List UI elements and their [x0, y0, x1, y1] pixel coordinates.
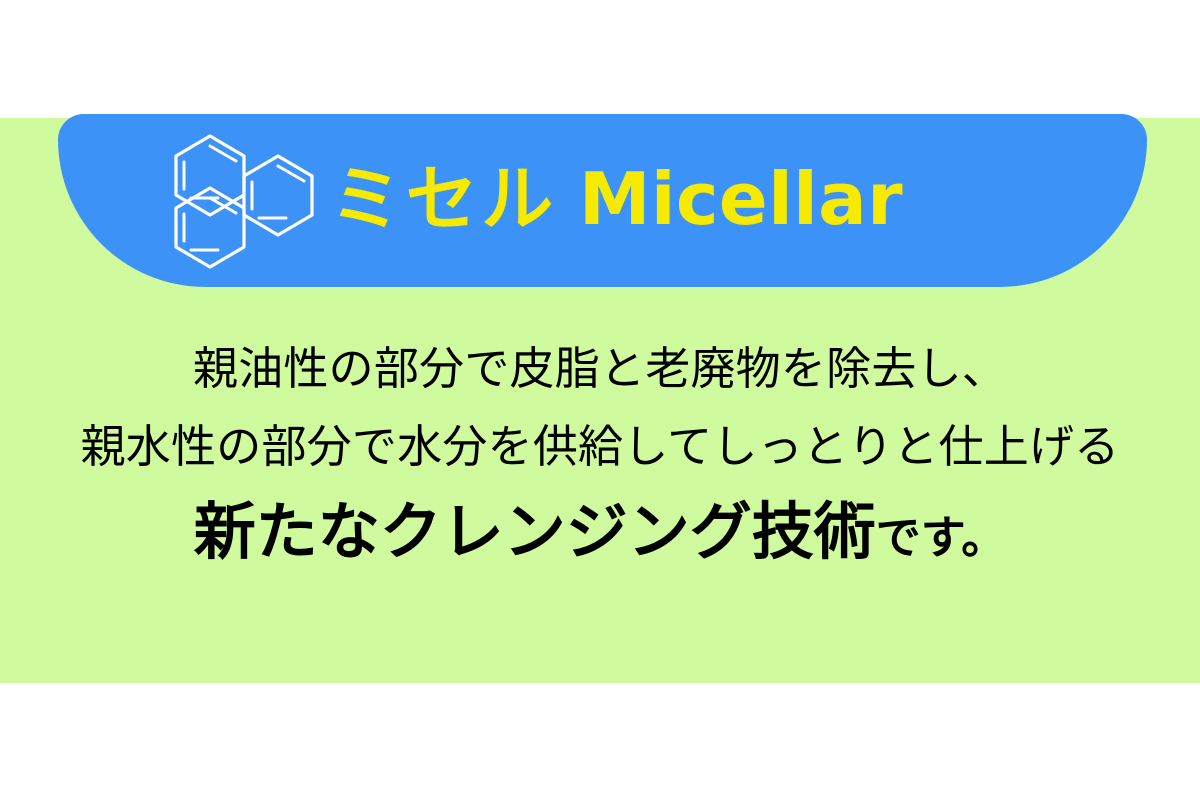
copy-line-2: 親水性の部分で水分を供給してしっとりと仕上げる [0, 408, 1200, 486]
slide-canvas: ミセルMicellar 親油性の部分で皮脂と老廃物を除去し、 親水性の部分で水分… [0, 0, 1200, 800]
brand-title-jp: ミセル [330, 157, 557, 241]
brand-title-en: Micellar [579, 157, 903, 241]
brand-title: ミセルMicellar [330, 163, 903, 235]
copy-line-3: 新たなクレンジング技術です。 [0, 486, 1200, 594]
copy-line-3-tail: です。 [876, 511, 1007, 564]
molecule-hexagons-icon [166, 132, 326, 272]
copy-line-1: 親油性の部分で皮脂と老廃物を除去し、 [0, 330, 1200, 408]
copy-line-3-emphasis: 新たなクレンジング技術 [194, 495, 876, 568]
description-copy: 親油性の部分で皮脂と老廃物を除去し、 親水性の部分で水分を供給してしっとりと仕上… [0, 330, 1200, 594]
brand-banner: ミセルMicellar [58, 114, 1147, 287]
